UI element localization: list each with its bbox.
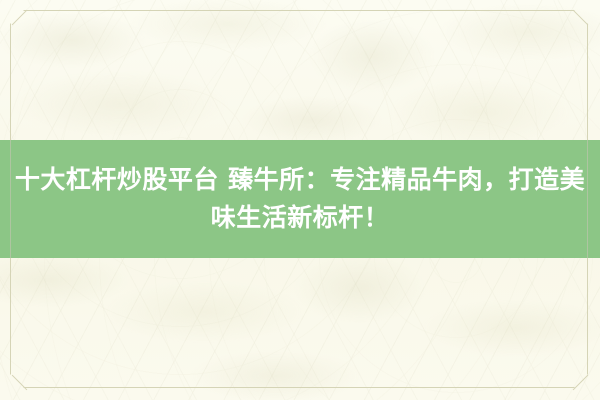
frame-line-right-over-banner: [587, 140, 588, 258]
frame-line-left-over-banner: [10, 140, 11, 258]
headline-text: 十大杠杆炒股平台 臻牛所：专注精品牛肉，打造美味生活新标杆！: [6, 161, 594, 237]
headline-banner: 十大杠杆炒股平台 臻牛所：专注精品牛肉，打造美味生活新标杆！: [0, 140, 600, 258]
image-canvas: 十大杠杆炒股平台 臻牛所：专注精品牛肉，打造美味生活新标杆！: [0, 0, 600, 400]
